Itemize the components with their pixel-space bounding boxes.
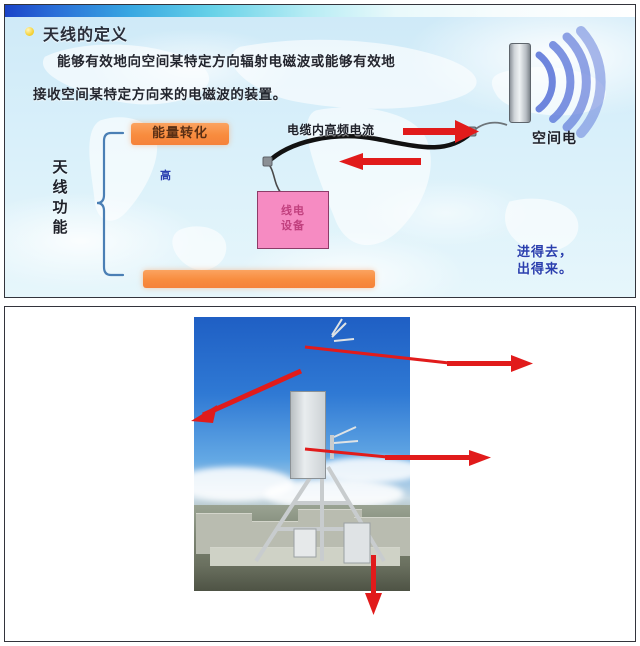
slogan-line-2: 出得来。 bbox=[517, 261, 573, 278]
antenna-definition-slide: 天线的定义 能够有效地向空间某特定方向辐射电磁波或能够有效地 接收空间某特定方向… bbox=[4, 4, 636, 298]
cell-tower-photo-panel: 看不见的电磁波 天线 馈线 基站设备（RRU） bbox=[4, 306, 636, 642]
cable-current-label: 电缆内高频电流 bbox=[287, 121, 375, 138]
definition-text-line-1: 能够有效地向空间某特定方向辐射电磁波或能够有效地 bbox=[57, 50, 395, 70]
vlabel-char-1: 天 bbox=[51, 157, 71, 177]
lower-orange-box bbox=[143, 270, 375, 288]
definition-text-line-2: 接收空间某特定方向来的电磁波的装置。 bbox=[33, 83, 287, 103]
slogan-line-1: 进得去， bbox=[517, 244, 573, 261]
slide-title: 天线的定义 bbox=[43, 21, 128, 45]
vlabel-char-3: 功 bbox=[51, 197, 71, 217]
space-wave-label: 空间电 bbox=[532, 128, 577, 148]
vlabel-char-2: 线 bbox=[51, 177, 71, 197]
energy-conversion-box: 能量转化 bbox=[131, 123, 229, 145]
rru-equipment-box bbox=[344, 523, 370, 563]
cell-tower-photograph bbox=[194, 317, 410, 591]
radio-device-line-2: 设备 bbox=[258, 218, 328, 233]
vlabel-char-4: 能 bbox=[51, 217, 71, 237]
radio-device-line-1: 线电 bbox=[258, 203, 328, 218]
antenna-unit-graphic bbox=[509, 43, 531, 123]
gao-annotation: 高 bbox=[160, 167, 171, 183]
antenna-panel-on-mast bbox=[290, 391, 326, 479]
antenna-function-label: 天 线 功 能 bbox=[51, 157, 71, 237]
radio-device-box: 线电 设备 bbox=[257, 191, 329, 249]
cabinet-box bbox=[294, 529, 316, 557]
bullet-dot-icon bbox=[25, 27, 34, 36]
slogan-text: 进得去， 出得来。 bbox=[517, 244, 573, 278]
